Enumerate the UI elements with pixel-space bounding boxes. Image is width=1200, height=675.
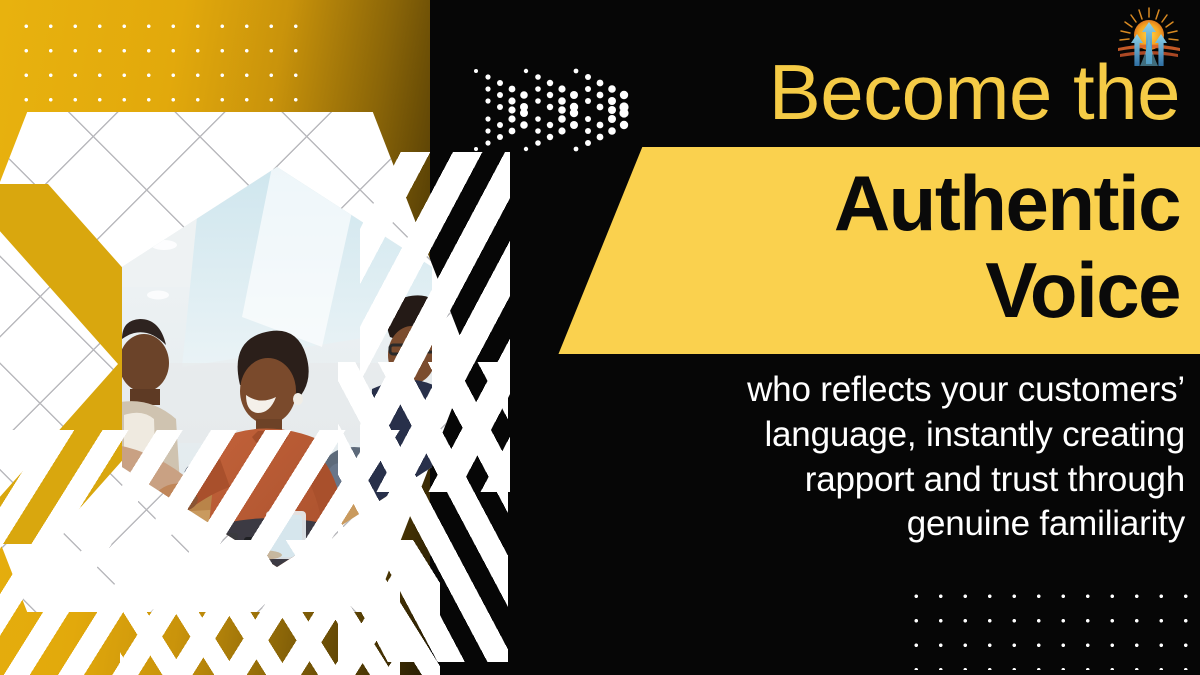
headline-line-2: Authentic bbox=[834, 159, 1180, 247]
subtext-line-2: language, instantly creating bbox=[600, 413, 1185, 458]
bottom-left-chevron-stripes-b bbox=[120, 540, 440, 675]
dot-grid-top-left-icon bbox=[8, 8, 308, 126]
subtext-line-1: who reflects your customers’ bbox=[600, 368, 1185, 413]
dot-grid-bottom-right-icon bbox=[898, 578, 1198, 670]
subtext-block: who reflects your customers’ language, i… bbox=[600, 368, 1185, 547]
promo-slide: Become the Authentic Voice who reflects … bbox=[0, 0, 1200, 675]
headline-line-3: Voice bbox=[600, 247, 1180, 334]
headline-line-1: Become the bbox=[600, 54, 1180, 130]
subtext-line-3: rapport and trust through bbox=[600, 458, 1185, 503]
headline-block: Authentic Voice bbox=[600, 160, 1180, 335]
subtext-line-4: genuine familiarity bbox=[600, 502, 1185, 547]
